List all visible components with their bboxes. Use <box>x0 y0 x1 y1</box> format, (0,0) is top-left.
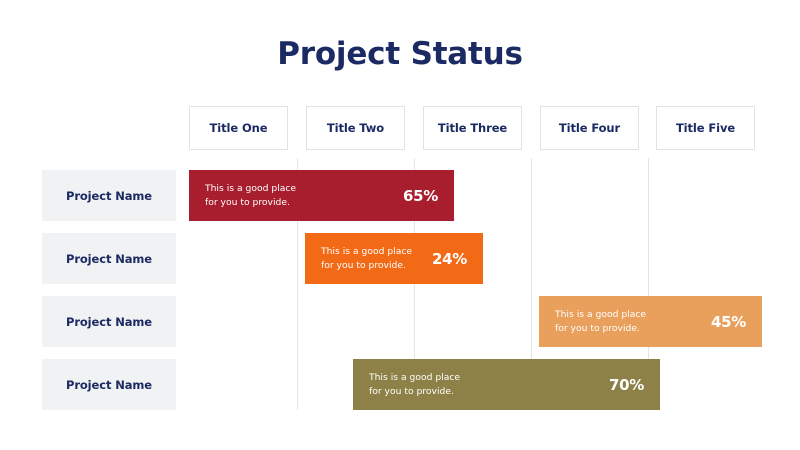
bar-percent: 24% <box>432 250 467 268</box>
row-label-1[interactable]: Project Name <box>42 170 176 221</box>
bar-percent: 65% <box>403 187 438 205</box>
row-label-text: Project Name <box>66 315 152 329</box>
row-label-2[interactable]: Project Name <box>42 233 176 284</box>
row-label-3[interactable]: Project Name <box>42 296 176 347</box>
slide-canvas: Project Status Title One Title Two Title… <box>0 0 800 450</box>
column-header-4[interactable]: Title Four <box>540 106 639 150</box>
row-label-text: Project Name <box>66 189 152 203</box>
column-header-1[interactable]: Title One <box>189 106 288 150</box>
column-header-2[interactable]: Title Two <box>306 106 405 150</box>
bar-description: This is a good place for you to provide. <box>205 182 296 209</box>
column-header-3[interactable]: Title Three <box>423 106 522 150</box>
status-bar-4[interactable]: This is a good place for you to provide.… <box>353 359 660 410</box>
bar-description: This is a good place for you to provide. <box>369 371 460 398</box>
column-header-5[interactable]: Title Five <box>656 106 755 150</box>
status-bar-2[interactable]: This is a good place for you to provide.… <box>305 233 483 284</box>
row-label-4[interactable]: Project Name <box>42 359 176 410</box>
column-header-label: Title Five <box>676 121 735 135</box>
column-header-label: Title Three <box>438 121 507 135</box>
bar-description: This is a good place for you to provide. <box>321 245 412 272</box>
column-header-label: Title Four <box>559 121 620 135</box>
row-label-text: Project Name <box>66 252 152 266</box>
column-header-label: Title Two <box>327 121 384 135</box>
status-bar-1[interactable]: This is a good place for you to provide.… <box>189 170 454 221</box>
row-label-text: Project Name <box>66 378 152 392</box>
bar-description: This is a good place for you to provide. <box>555 308 646 335</box>
page-title: Project Status <box>0 36 800 72</box>
status-bar-3[interactable]: This is a good place for you to provide.… <box>539 296 762 347</box>
bar-percent: 70% <box>609 376 644 394</box>
column-header-label: Title One <box>210 121 268 135</box>
bar-percent: 45% <box>711 313 746 331</box>
